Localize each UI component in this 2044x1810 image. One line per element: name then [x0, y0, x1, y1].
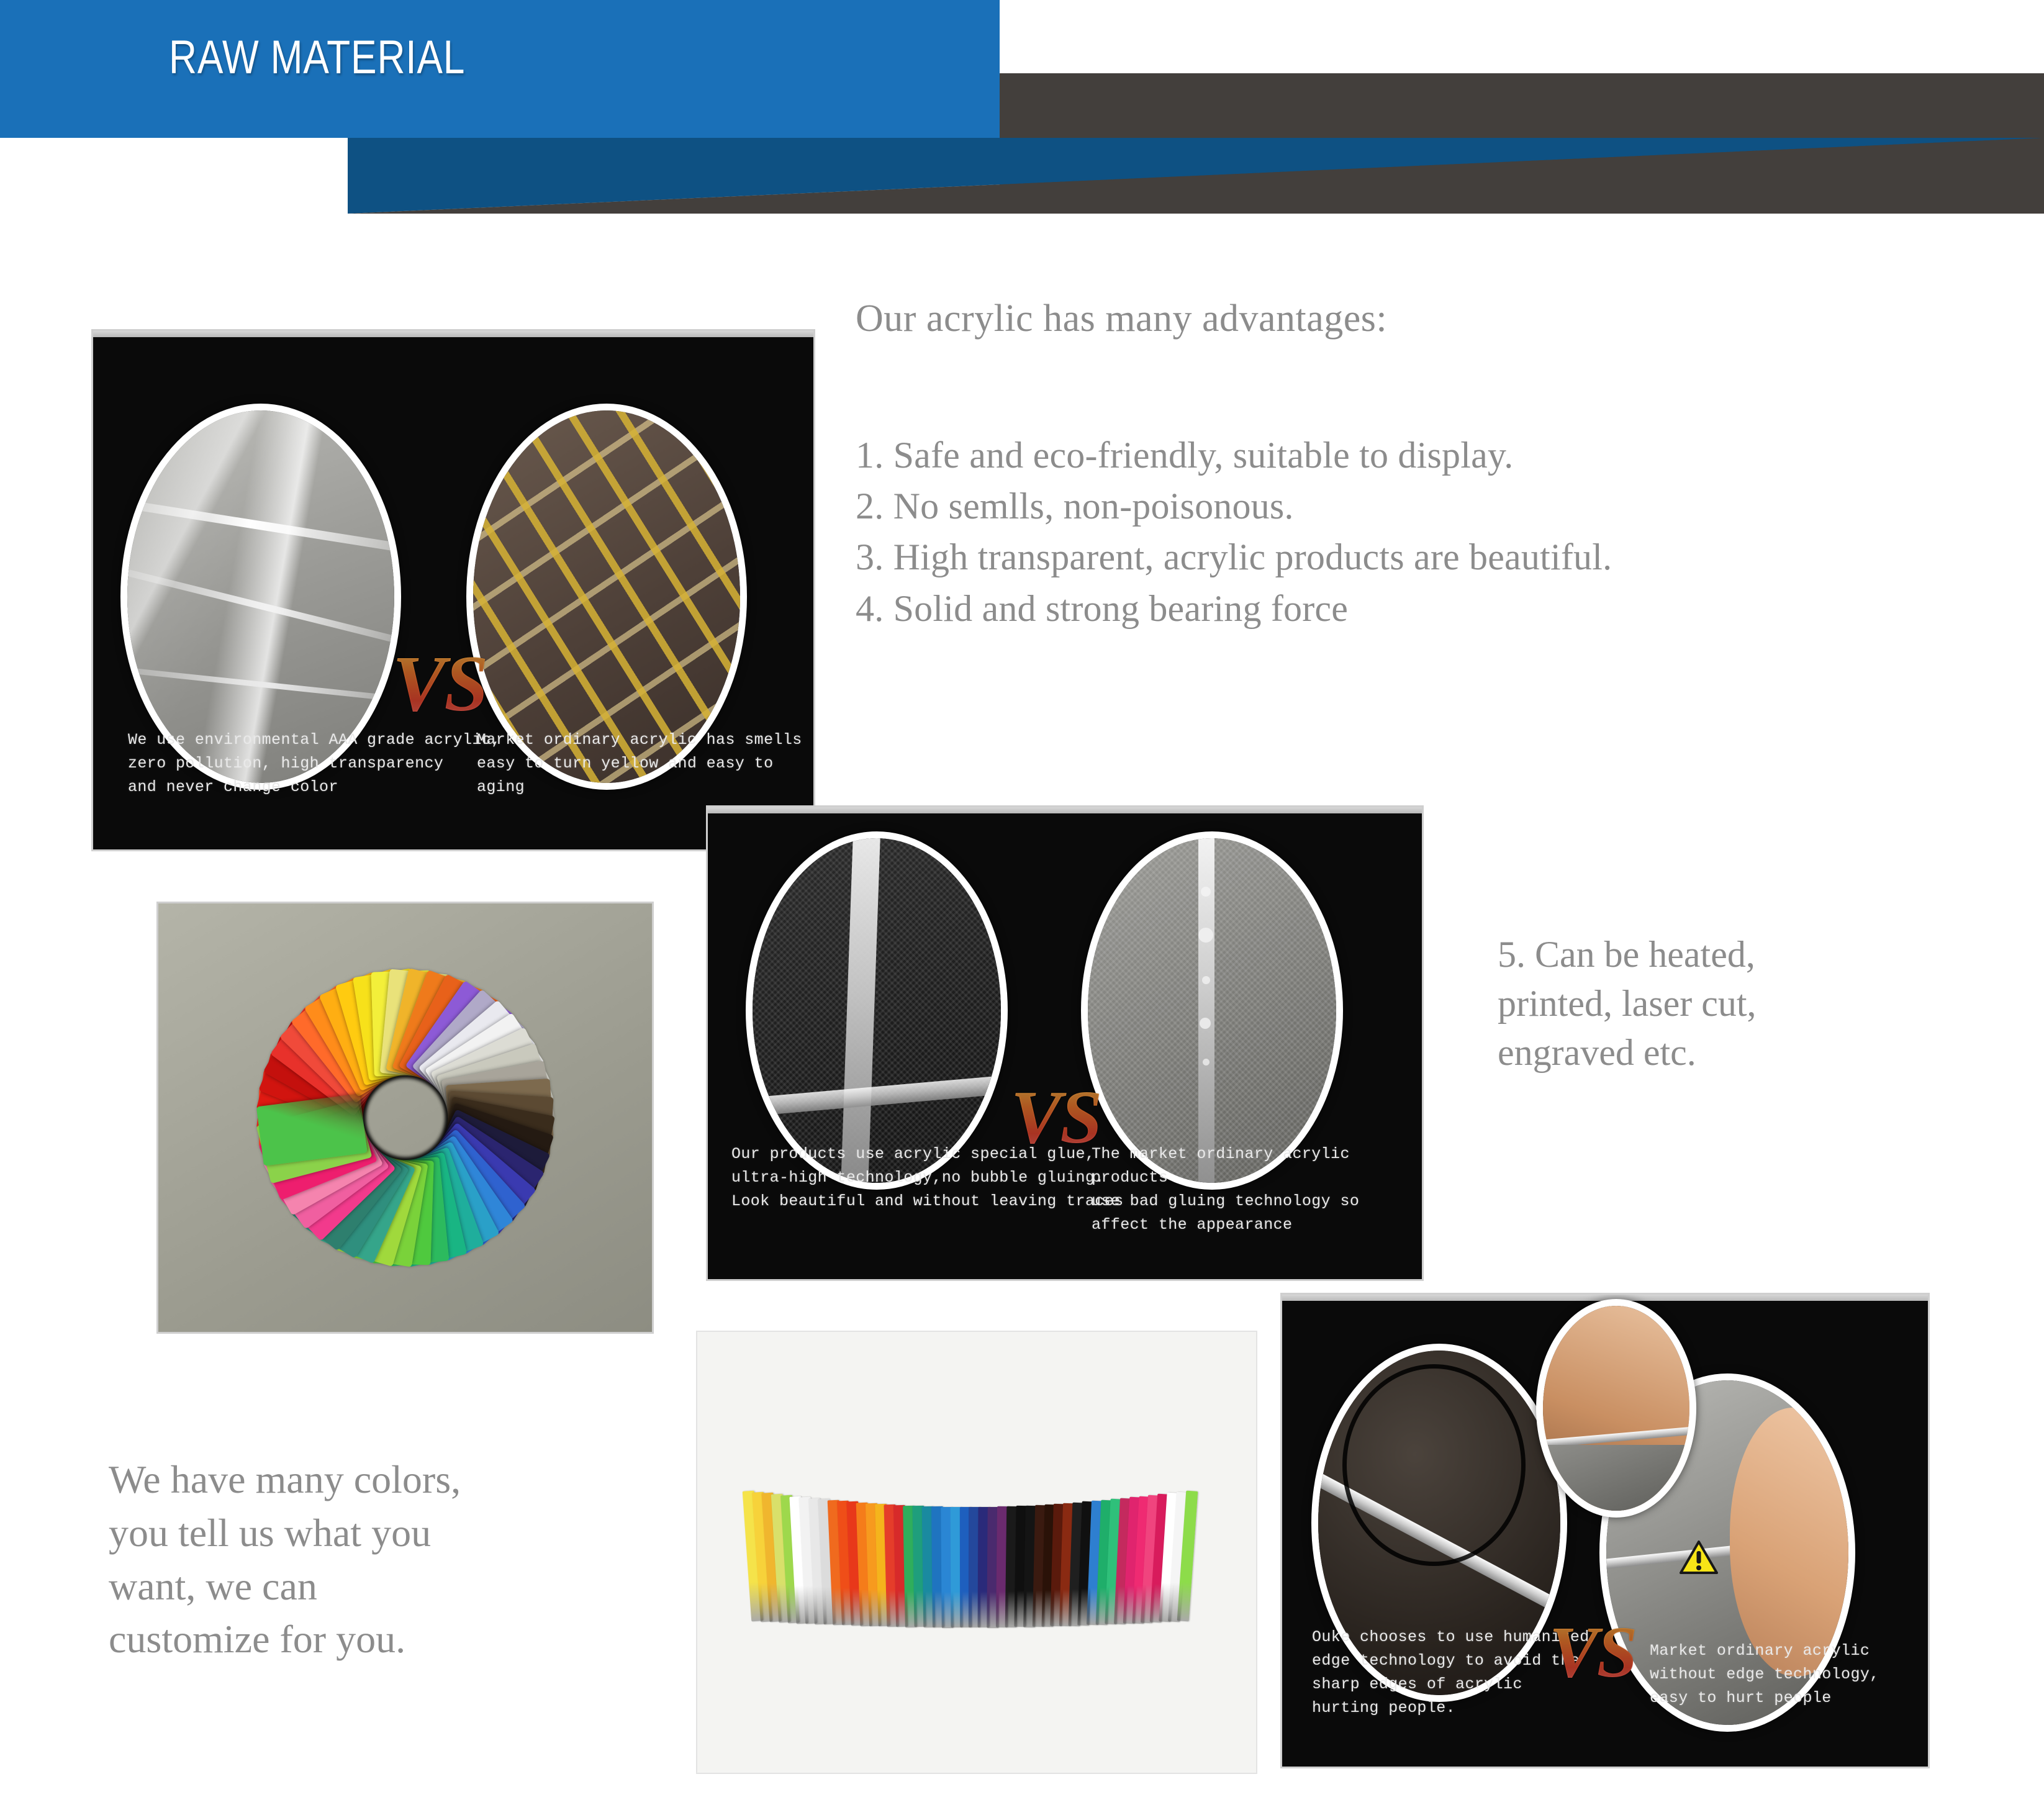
page-title: RAW MATERIAL [169, 34, 780, 81]
oval-good-acrylic [127, 410, 394, 783]
caption-left: Ouke chooses to use humanized edge techn… [1312, 1626, 1590, 1720]
caption-right: Market ordinary acrylic without edge tec… [1650, 1639, 1879, 1710]
yellowed-acrylic-sheets-image [473, 410, 740, 783]
caption-right: The market ordinary acrylic products use… [1092, 1143, 1422, 1237]
vs-badge: VS [1011, 1074, 1101, 1161]
vs-badge: VS [392, 638, 487, 730]
oval-good-gluing [753, 838, 1001, 1183]
oval-bad-gluing [1088, 838, 1336, 1183]
vs-badge: VS [1549, 1610, 1636, 1695]
comparison-photo-edge-safety: VS Ouke chooses to use humanized edge te… [1282, 1295, 1928, 1767]
advantages-list: 1. Safe and eco-friendly, suitable to di… [856, 430, 1612, 634]
comparison-photo-gluing-quality: VS Our products use acrylic special glue… [708, 807, 1422, 1279]
caption-right: Market ordinary acrylic has smells easy … [477, 728, 813, 799]
color-swatch-fan-photo [697, 1332, 1256, 1773]
advantages-title: Our acrylic has many advantages: [856, 297, 1387, 341]
advantages-item-5: 5. Can be heated, printed, laser cut, en… [1498, 930, 1932, 1078]
photo-top-strip [93, 331, 813, 337]
color-wheel-photo [158, 903, 652, 1332]
oval-finger-closeup [1543, 1306, 1689, 1511]
caption-left: We use environmental AAA grade acrylic, … [128, 728, 501, 799]
warning-triangle-icon [1680, 1540, 1718, 1575]
photo-top-strip [708, 807, 1422, 813]
comparison-photo-material-quality: VS We use environmental AAA grade acryli… [93, 331, 813, 849]
clear-acrylic-sheets-image [127, 410, 394, 783]
color-wheel-background [158, 903, 652, 1332]
photo-top-strip [1282, 1295, 1928, 1301]
oval-yellowed-acrylic [473, 410, 740, 783]
colors-customization-note: We have many colors, you tell us what yo… [109, 1453, 699, 1666]
header-wedge [348, 138, 2044, 214]
